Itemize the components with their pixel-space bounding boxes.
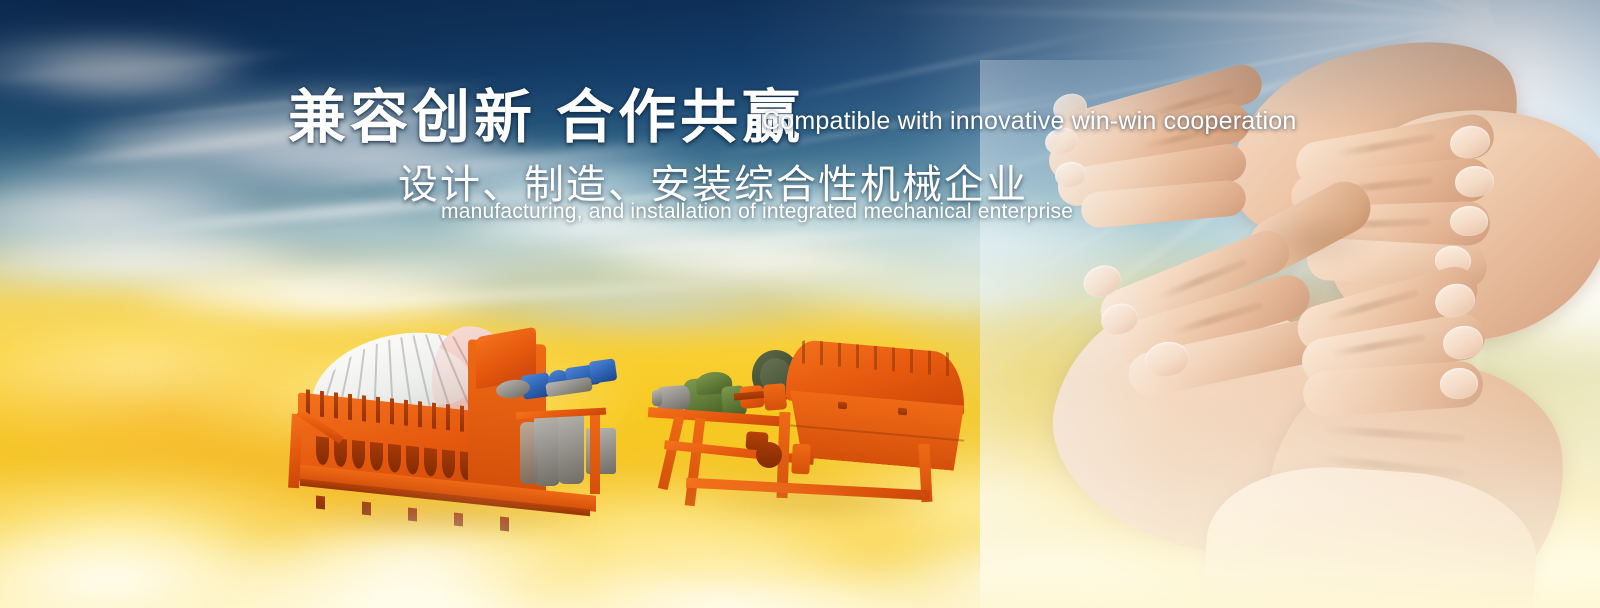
subheadline-english: manufacturing, and installation of integ… <box>441 200 1073 224</box>
headline-english: Compatible with innovative win-win coope… <box>762 107 1296 136</box>
banner-text-block: 兼容创新 合作共赢 Compatible with innovative win… <box>0 0 1600 608</box>
promotional-banner: 兼容创新 合作共赢 Compatible with innovative win… <box>0 0 1600 608</box>
headline-chinese: 兼容创新 合作共赢 <box>288 70 804 154</box>
